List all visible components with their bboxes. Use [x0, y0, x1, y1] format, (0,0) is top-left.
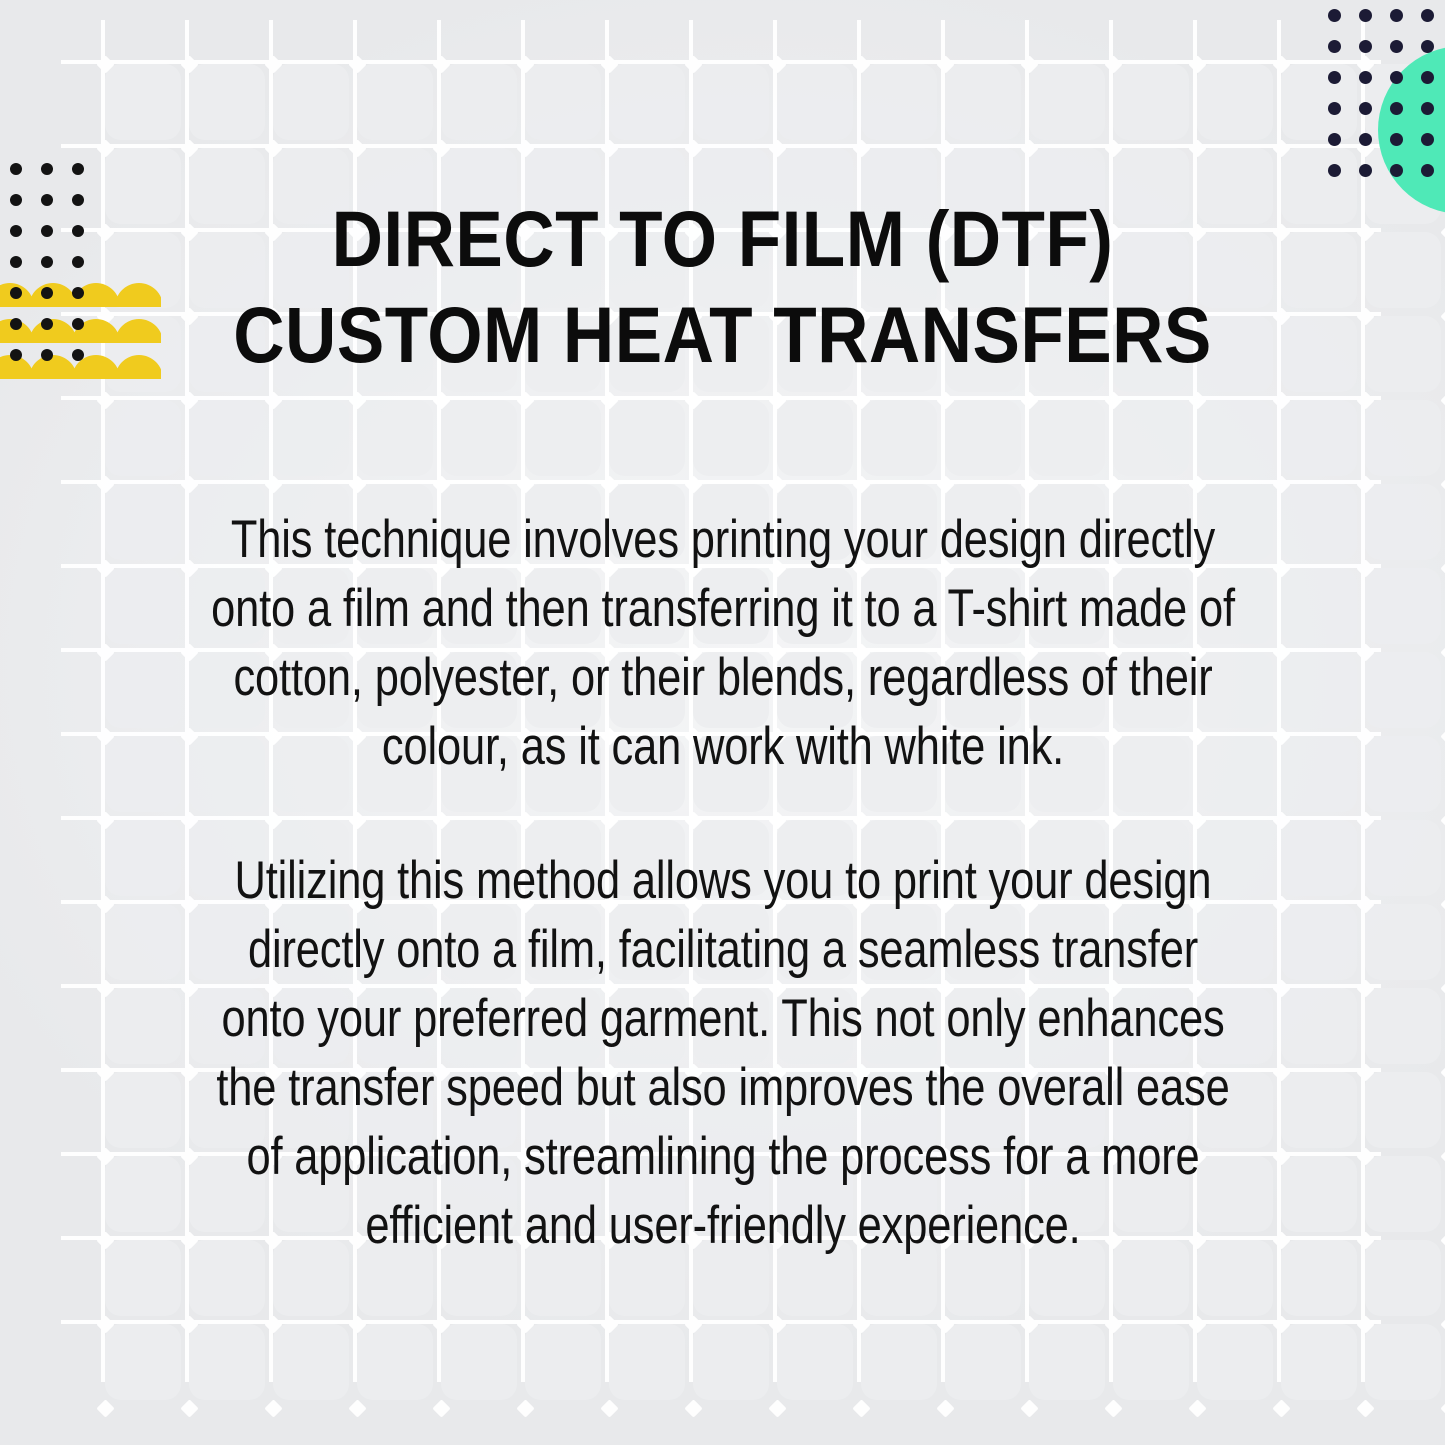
grid-cell — [1365, 400, 1441, 476]
grid-cell — [357, 400, 433, 476]
grid-diamond — [1188, 1399, 1206, 1417]
grid-diamond — [264, 811, 282, 829]
grid-diamond — [96, 475, 114, 493]
navy-dot — [1421, 164, 1434, 177]
grid-diamond — [348, 475, 366, 493]
grid-diamond — [1104, 1399, 1122, 1417]
grid-diamond — [1440, 1231, 1445, 1249]
grid-diamond — [1188, 55, 1206, 73]
grid-cell — [1281, 1324, 1357, 1400]
grid-cell — [1365, 1072, 1441, 1148]
navy-dot — [1421, 133, 1434, 146]
grid-diamond — [1440, 979, 1445, 997]
grid-cell — [1197, 400, 1273, 476]
grid-diamond — [1272, 55, 1290, 73]
grid-diamond — [1356, 1399, 1374, 1417]
grid-cell — [861, 1324, 937, 1400]
grid-diamond — [1356, 559, 1374, 577]
grid-diamond — [936, 1399, 954, 1417]
grid-diamond — [1440, 1063, 1445, 1081]
navy-dot — [1390, 40, 1403, 53]
grid-cell — [273, 1324, 349, 1400]
grid-cell — [1281, 1072, 1357, 1148]
grid-cell — [1365, 316, 1441, 392]
grid-diamond — [852, 391, 870, 409]
grid-diamond — [1104, 1315, 1122, 1333]
grid-diamond — [1356, 1315, 1374, 1333]
grid-diamond — [768, 55, 786, 73]
grid-diamond — [852, 475, 870, 493]
grid-diamond — [1440, 391, 1445, 409]
grid-diamond — [348, 1399, 366, 1417]
grid-diamond — [1272, 727, 1290, 745]
grid-diamond — [1020, 391, 1038, 409]
grid-cell — [777, 1324, 853, 1400]
grid-diamond — [348, 391, 366, 409]
grid-diamond — [684, 811, 702, 829]
black-dot — [41, 163, 53, 175]
grid-diamond — [684, 55, 702, 73]
grid-diamond — [768, 391, 786, 409]
grid-diamond — [1104, 475, 1122, 493]
grid-diamond — [684, 475, 702, 493]
grid-cell — [1281, 820, 1357, 896]
grid-diamond — [96, 811, 114, 829]
grid-diamond — [1272, 139, 1290, 157]
grid-cell — [441, 64, 517, 140]
grid-diamond — [852, 811, 870, 829]
grid-cell — [441, 1324, 517, 1400]
grid-diamond — [1440, 727, 1445, 745]
grid-diamond — [96, 1399, 114, 1417]
grid-diamond — [180, 55, 198, 73]
grid-diamond — [180, 1231, 198, 1249]
grid-cell — [1029, 64, 1105, 140]
navy-dot — [1390, 164, 1403, 177]
grid-diamond — [180, 1063, 198, 1081]
grid-diamond — [96, 979, 114, 997]
grid-diamond — [180, 559, 198, 577]
navy-dot — [1328, 133, 1341, 146]
grid-diamond — [180, 895, 198, 913]
grid-diamond — [1440, 223, 1445, 241]
grid-diamond — [264, 1399, 282, 1417]
grid-cell — [1365, 568, 1441, 644]
grid-cell — [105, 988, 181, 1064]
grid-diamond — [1272, 979, 1290, 997]
grid-diamond — [600, 139, 618, 157]
grid-diamond — [1272, 475, 1290, 493]
grid-diamond — [264, 391, 282, 409]
grid-diamond — [1356, 1231, 1374, 1249]
grid-diamond — [432, 1315, 450, 1333]
grid-diamond — [600, 811, 618, 829]
grid-diamond — [1440, 475, 1445, 493]
grid-diamond — [516, 811, 534, 829]
grid-cell — [357, 1324, 433, 1400]
grid-cell — [105, 1156, 181, 1232]
grid-diamond — [600, 1315, 618, 1333]
grid-cell — [1197, 64, 1273, 140]
grid-diamond — [852, 55, 870, 73]
grid-diamond — [684, 1399, 702, 1417]
grid-diamond — [1356, 1147, 1374, 1165]
grid-cell — [1197, 1324, 1273, 1400]
grid-diamond — [516, 139, 534, 157]
grid-diamond — [1356, 811, 1374, 829]
black-dot — [10, 256, 22, 268]
grid-diamond — [936, 475, 954, 493]
grid-cell — [1029, 1324, 1105, 1400]
grid-cell — [693, 64, 769, 140]
grid-cell — [1029, 400, 1105, 476]
navy-dot — [1359, 164, 1372, 177]
grid-diamond — [516, 55, 534, 73]
grid-diamond — [1440, 1147, 1445, 1165]
grid-diamond — [936, 139, 954, 157]
navy-dot — [1359, 71, 1372, 84]
grid-diamond — [1440, 811, 1445, 829]
grid-diamond — [936, 55, 954, 73]
grid-diamond — [1272, 1063, 1290, 1081]
grid-diamond — [1188, 391, 1206, 409]
grid-diamond — [600, 391, 618, 409]
grid-cell — [105, 484, 181, 560]
grid-diamond — [1356, 391, 1374, 409]
black-dot — [41, 225, 53, 237]
grid-diamond — [1188, 1315, 1206, 1333]
grid-diamond — [1356, 979, 1374, 997]
grid-cell — [777, 64, 853, 140]
grid-diamond — [180, 139, 198, 157]
grid-diamond — [768, 1399, 786, 1417]
grid-cell — [105, 568, 181, 644]
navy-dot — [1328, 164, 1341, 177]
black-dot — [10, 318, 22, 330]
black-dot — [72, 163, 84, 175]
grid-diamond — [768, 811, 786, 829]
grid-cell — [525, 1324, 601, 1400]
grid-cell — [1281, 484, 1357, 560]
grid-diamond — [348, 811, 366, 829]
grid-diamond — [768, 475, 786, 493]
grid-diamond — [684, 139, 702, 157]
grid-cell — [105, 1240, 181, 1316]
grid-cell — [105, 1072, 181, 1148]
grid-diamond — [348, 139, 366, 157]
grid-diamond — [96, 643, 114, 661]
navy-dot — [1359, 102, 1372, 115]
grid-diamond — [1272, 559, 1290, 577]
grid-diamond — [516, 475, 534, 493]
navy-dot — [1390, 133, 1403, 146]
grid-cell — [105, 904, 181, 980]
grid-diamond — [348, 55, 366, 73]
grid-cell — [105, 1324, 181, 1400]
grid-diamond — [1272, 1315, 1290, 1333]
grid-diamond — [264, 475, 282, 493]
black-dot — [10, 349, 22, 361]
grid-cell — [525, 64, 601, 140]
grid-diamond — [1188, 139, 1206, 157]
black-dot — [10, 194, 22, 206]
body-paragraph-2: Utilizing this method allows you to prin… — [209, 846, 1237, 1260]
grid-diamond — [180, 1147, 198, 1165]
grid-diamond — [1188, 811, 1206, 829]
grid-diamond — [96, 895, 114, 913]
grid-cell — [1365, 1240, 1441, 1316]
grid-diamond — [1020, 811, 1038, 829]
grid-diamond — [1020, 139, 1038, 157]
grid-cell — [273, 64, 349, 140]
grid-cell — [105, 820, 181, 896]
grid-diamond — [1356, 475, 1374, 493]
grid-cell — [441, 400, 517, 476]
grid-cell — [1365, 904, 1441, 980]
grid-diamond — [516, 1315, 534, 1333]
grid-diamond — [1440, 895, 1445, 913]
grid-diamond — [852, 139, 870, 157]
grid-cell — [693, 1324, 769, 1400]
grid-cell — [945, 64, 1021, 140]
grid-diamond — [936, 391, 954, 409]
grid-diamond — [936, 811, 954, 829]
grid-cell — [1281, 736, 1357, 812]
grid-cell — [777, 400, 853, 476]
grid-diamond — [180, 1399, 198, 1417]
grid-cell — [861, 64, 937, 140]
grid-cell — [1365, 736, 1441, 812]
grid-cell — [1365, 484, 1441, 560]
black-dot — [41, 256, 53, 268]
grid-diamond — [1440, 307, 1445, 325]
grid-diamond — [852, 1399, 870, 1417]
grid-diamond — [600, 55, 618, 73]
grid-diamond — [96, 1231, 114, 1249]
grid-diamond — [1272, 895, 1290, 913]
grid-diamond — [1020, 1315, 1038, 1333]
grid-cell — [945, 400, 1021, 476]
grid-diamond — [180, 475, 198, 493]
grid-cell — [1365, 1156, 1441, 1232]
grid-diamond — [1356, 727, 1374, 745]
grid-cell — [609, 64, 685, 140]
navy-dot — [1359, 133, 1372, 146]
grid-diamond — [1272, 811, 1290, 829]
navy-dot — [1328, 71, 1341, 84]
grid-cell — [105, 736, 181, 812]
grid-cell — [1365, 652, 1441, 728]
grid-diamond — [1272, 1147, 1290, 1165]
grid-cell — [273, 400, 349, 476]
grid-cell — [1113, 1324, 1189, 1400]
grid-cell — [1281, 988, 1357, 1064]
navy-dot — [1421, 102, 1434, 115]
navy-dot — [1328, 102, 1341, 115]
grid-diamond — [96, 1315, 114, 1333]
grid-cell — [1281, 1156, 1357, 1232]
page-title: DIRECT TO FILM (DTF) CUSTOM HEAT TRANSFE… — [72, 191, 1373, 383]
grid-cell — [189, 64, 265, 140]
grid-diamond — [1440, 1315, 1445, 1333]
grid-diamond — [432, 55, 450, 73]
navy-dot — [1390, 9, 1403, 22]
black-dot — [41, 349, 53, 361]
grid-diamond — [600, 1399, 618, 1417]
grid-diamond — [768, 139, 786, 157]
grid-cell — [525, 400, 601, 476]
grid-cell — [1365, 1324, 1441, 1400]
grid-cell — [1281, 568, 1357, 644]
grid-diamond — [432, 1399, 450, 1417]
grid-cell — [189, 1324, 265, 1400]
grid-cell — [1113, 64, 1189, 140]
grid-cell — [1365, 988, 1441, 1064]
grid-cell — [1113, 400, 1189, 476]
grid-diamond — [96, 1147, 114, 1165]
navy-dot — [1390, 71, 1403, 84]
grid-diamond — [768, 1315, 786, 1333]
grid-diamond — [1020, 55, 1038, 73]
grid-diamond — [1104, 55, 1122, 73]
grid-diamond — [684, 1315, 702, 1333]
black-dot — [10, 225, 22, 237]
grid-diamond — [1272, 391, 1290, 409]
grid-diamond — [1020, 1399, 1038, 1417]
grid-cell — [105, 652, 181, 728]
grid-diamond — [180, 643, 198, 661]
grid-cell — [945, 1324, 1021, 1400]
grid-diamond — [180, 979, 198, 997]
grid-cell — [1281, 652, 1357, 728]
grid-diamond — [1356, 1063, 1374, 1081]
grid-diamond — [1440, 643, 1445, 661]
grid-diamond — [1188, 475, 1206, 493]
grid-diamond — [516, 391, 534, 409]
grid-diamond — [1020, 475, 1038, 493]
navy-dot — [1421, 40, 1434, 53]
grid-diamond — [96, 727, 114, 745]
grid-cell — [609, 400, 685, 476]
grid-diamond — [432, 811, 450, 829]
grid-diamond — [96, 1063, 114, 1081]
grid-diamond — [1356, 895, 1374, 913]
grid-diamond — [1356, 643, 1374, 661]
grid-diamond — [1104, 391, 1122, 409]
grid-diamond — [1272, 643, 1290, 661]
grid-cell — [1365, 820, 1441, 896]
navy-dot — [1328, 9, 1341, 22]
grid-diamond — [432, 139, 450, 157]
grid-diamond — [432, 391, 450, 409]
grid-diamond — [264, 1315, 282, 1333]
grid-diamond — [684, 391, 702, 409]
navy-dot — [1390, 102, 1403, 115]
grid-diamond — [96, 559, 114, 577]
grid-diamond — [1440, 1399, 1445, 1417]
grid-diamond — [600, 475, 618, 493]
black-dot — [10, 163, 22, 175]
grid-cell — [693, 400, 769, 476]
grid-diamond — [516, 1399, 534, 1417]
grid-diamond — [1272, 1399, 1290, 1417]
grid-diamond — [180, 811, 198, 829]
poster-canvas: DIRECT TO FILM (DTF) CUSTOM HEAT TRANSFE… — [0, 0, 1445, 1445]
grid-cell — [861, 400, 937, 476]
top-right-dot-grid — [1300, 0, 1445, 200]
body-paragraph-1: This technique involves printing your de… — [209, 505, 1237, 781]
grid-diamond — [852, 1315, 870, 1333]
black-dot — [10, 287, 22, 299]
grid-cell — [1281, 400, 1357, 476]
grid-diamond — [348, 1315, 366, 1333]
grid-diamond — [936, 1315, 954, 1333]
navy-dot — [1421, 71, 1434, 84]
navy-dot — [1328, 40, 1341, 53]
grid-diamond — [264, 55, 282, 73]
grid-cell — [357, 64, 433, 140]
grid-diamond — [180, 391, 198, 409]
black-dot — [41, 287, 53, 299]
navy-dot — [1359, 40, 1372, 53]
grid-cell — [609, 1324, 685, 1400]
navy-dot — [1359, 9, 1372, 22]
black-dot — [41, 318, 53, 330]
navy-dot — [1421, 9, 1434, 22]
grid-cell — [1281, 904, 1357, 980]
grid-diamond — [1104, 139, 1122, 157]
grid-diamond — [264, 139, 282, 157]
black-dot — [41, 194, 53, 206]
grid-cell — [189, 400, 265, 476]
grid-diamond — [1440, 559, 1445, 577]
grid-diamond — [180, 1315, 198, 1333]
grid-cell — [1281, 1240, 1357, 1316]
grid-diamond — [432, 475, 450, 493]
grid-diamond — [1272, 1231, 1290, 1249]
grid-diamond — [180, 727, 198, 745]
grid-cell — [1365, 232, 1441, 308]
grid-diamond — [1104, 811, 1122, 829]
